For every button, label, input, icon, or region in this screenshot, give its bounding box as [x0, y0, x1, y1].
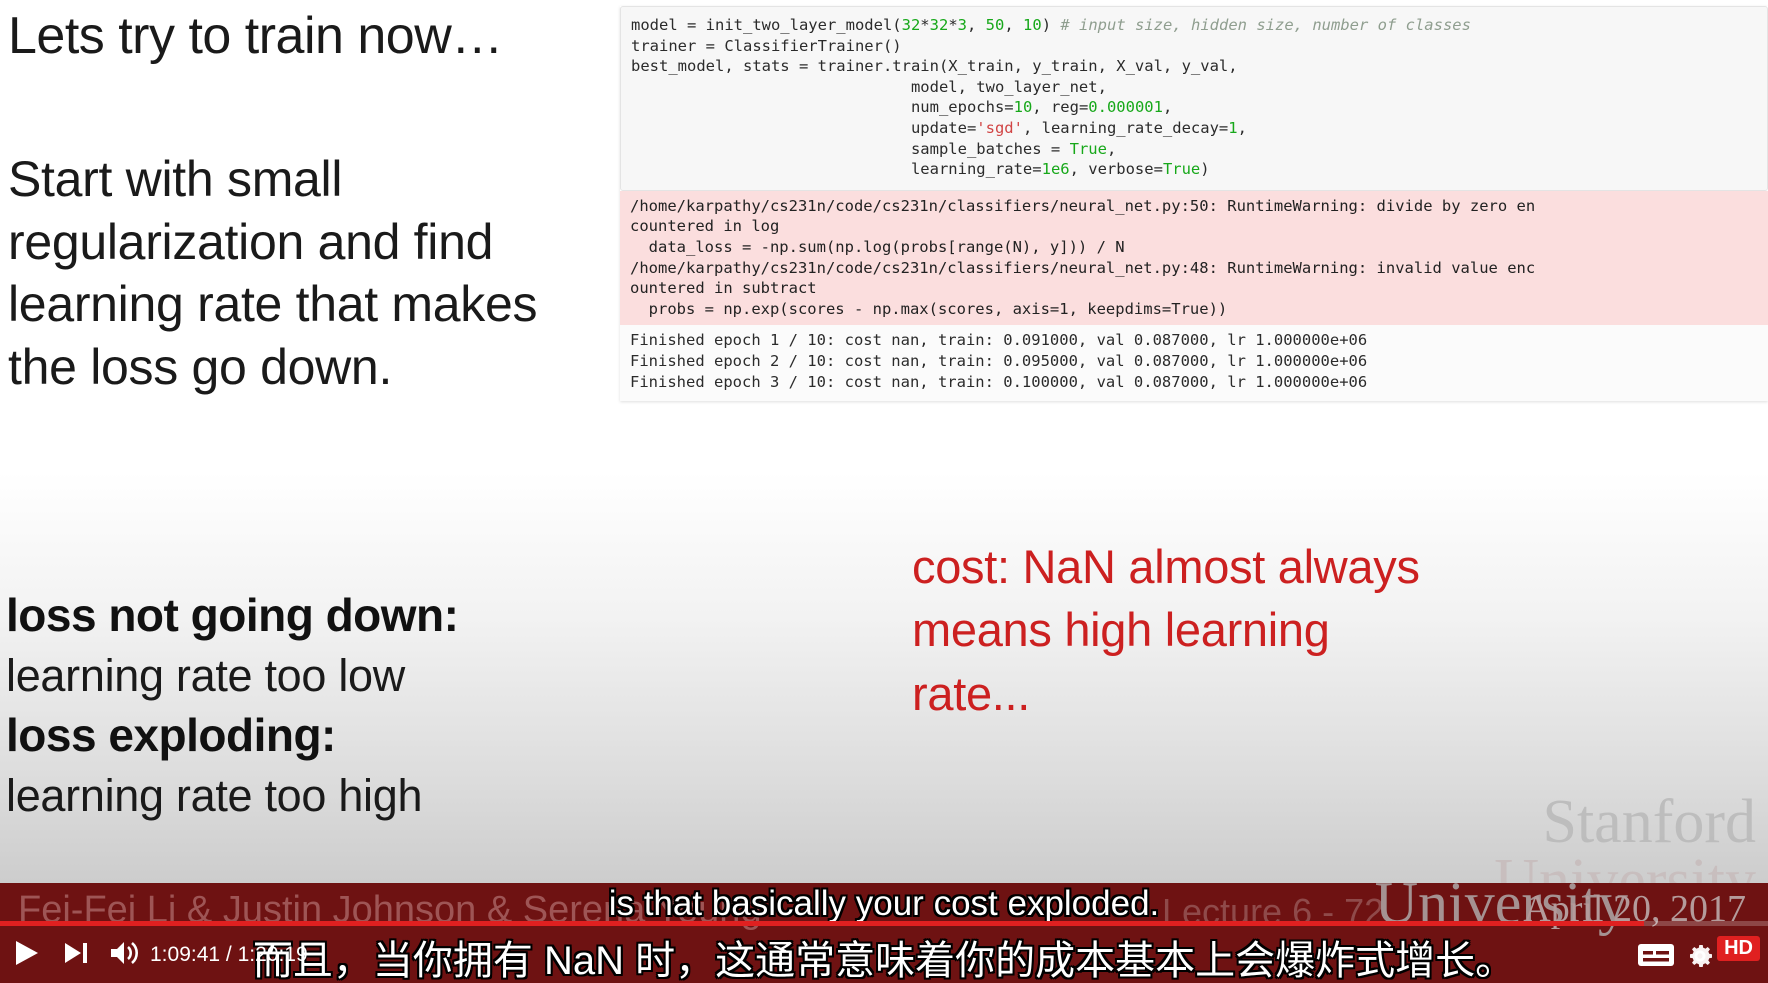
slide-left-column: Lets try to train now… [8, 8, 598, 64]
quality-badge-hd[interactable]: HD [1717, 936, 1760, 961]
slide-tips-list: loss not going down: learning rate too l… [6, 585, 626, 825]
play-icon[interactable] [12, 938, 46, 970]
next-track-icon[interactable] [62, 938, 96, 970]
watermark-stanford: Stanford [1494, 793, 1756, 853]
video-player: Lets try to train now… Start with small … [0, 0, 1768, 983]
player-controls: 1:09:41 / 1:20:19 HD [0, 926, 1768, 983]
tip-label-loss-exploding: loss exploding: [6, 705, 626, 766]
closed-captions-icon[interactable] [1636, 940, 1676, 975]
tip-label-loss-not-going-down: loss not going down: [6, 585, 626, 646]
tip-detail-loss-exploding: learning rate too high [6, 766, 626, 825]
code-stdout-output: Finished epoch 1 / 10: cost nan, train: … [620, 325, 1768, 401]
tip-detail-loss-not-going-down: learning rate too low [6, 646, 626, 705]
volume-icon[interactable] [108, 938, 142, 970]
slide-headline: Lets try to train now… [8, 8, 598, 64]
gear-icon[interactable] [1684, 940, 1716, 977]
code-warning-output: /home/karpathy/cs231n/code/cs231n/classi… [620, 191, 1768, 326]
slide-callout-nan: cost: NaN almost always means high learn… [912, 535, 1432, 725]
slide-body-paragraph: Start with small regularization and find… [8, 148, 568, 398]
slide-canvas: Lets try to train now… Start with small … [0, 0, 1768, 908]
time-display: 1:09:41 / 1:20:19 [150, 943, 308, 967]
code-screenshot: model = init_two_layer_model(32*32*3, 50… [620, 6, 1768, 401]
code-input-cell: model = init_two_layer_model(32*32*3, 50… [620, 6, 1768, 191]
